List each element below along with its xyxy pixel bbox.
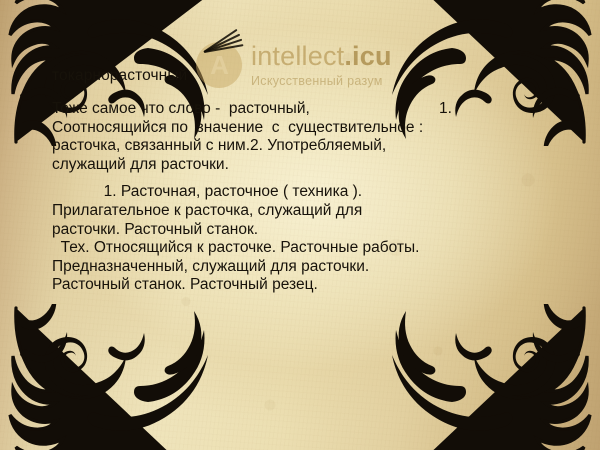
definition-line: расточка, связанный с ним.2. Употребляем… — [52, 137, 552, 156]
dictionary-card: A intellect.icu Искусственный разум тока… — [0, 0, 600, 450]
definition-line: Тоже самое что слово - расточный, 1. — [52, 100, 552, 119]
definition-line: Тех. Относящийся к расточке. Расточные р… — [52, 239, 552, 258]
ornament-bottom-right-icon — [392, 304, 600, 450]
entry-content: токарнорасточный Тоже самое что слово - … — [52, 66, 552, 295]
definition-line: Прилагательное к расточка, служащий для — [52, 202, 552, 221]
definition-line: расточки. Расточный станок. — [52, 221, 552, 240]
definition-line: Расточный станок. Расточный резец. — [52, 276, 552, 295]
definition-line: 1. Расточная, расточное ( техника ). — [52, 183, 552, 202]
ornament-bottom-left-icon — [0, 304, 208, 450]
entry-definition-body: Тоже самое что слово - расточный, 1.Соот… — [52, 100, 552, 295]
page-title: токарнорасточный — [52, 66, 552, 86]
definition-line: Предназначенный, служащий для расточки. — [52, 258, 552, 277]
watermark-rays-icon — [204, 29, 258, 55]
definition-line: служащий для расточки. — [52, 156, 552, 175]
definition-line: Соотносящийся по значение с существитель… — [52, 119, 552, 138]
definition-spacer — [52, 174, 552, 183]
